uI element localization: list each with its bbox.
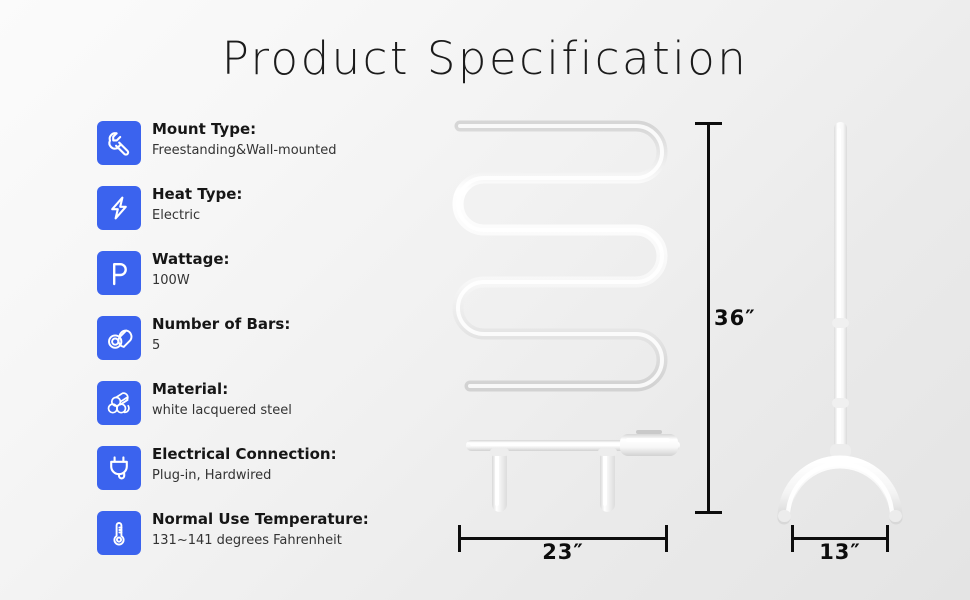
spec-row-heat-type: Heat Type: Electric bbox=[97, 186, 427, 251]
specification-list: Mount Type: Freestanding&Wall-mounted He… bbox=[97, 121, 427, 576]
thermometer-icon bbox=[97, 511, 141, 555]
spec-row-material: Material: white lacquered steel bbox=[97, 381, 427, 446]
single-pipe-icon bbox=[97, 316, 141, 360]
stacked-pipes-icon bbox=[97, 381, 141, 425]
spec-text-heat-type: Heat Type: Electric bbox=[152, 184, 427, 225]
spec-text-wattage: Wattage: 100W bbox=[152, 249, 427, 290]
towel-warmer-front-view bbox=[440, 110, 690, 530]
spec-text-number-of-bars: Number of Bars: 5 bbox=[152, 314, 427, 355]
width-dimension-label: 23″ bbox=[458, 540, 668, 564]
infographic-canvas: Product Specification Mount Type: Freest… bbox=[0, 0, 970, 600]
depth-dimension-label: 13″ bbox=[791, 540, 889, 564]
spec-row-wattage: Wattage: 100W bbox=[97, 251, 427, 316]
spec-row-number-of-bars: Number of Bars: 5 bbox=[97, 316, 427, 381]
spec-row-electrical-connection: Electrical Connection: Plug-in, Hardwire… bbox=[97, 446, 427, 511]
height-dimension-cap-top bbox=[695, 122, 722, 125]
spec-value: 5 bbox=[152, 336, 427, 355]
spec-label: Wattage: bbox=[152, 249, 427, 269]
spec-value: white lacquered steel bbox=[152, 401, 427, 420]
height-dimension-label: 36″ bbox=[714, 306, 756, 330]
spec-label: Mount Type: bbox=[152, 119, 427, 139]
page-title: Product Specification bbox=[0, 32, 970, 85]
spec-value: Freestanding&Wall-mounted bbox=[152, 141, 427, 160]
spec-value: Plug-in, Hardwired bbox=[152, 466, 427, 485]
height-dimension-cap-bottom bbox=[695, 511, 722, 514]
towel-warmer-side-view bbox=[770, 110, 930, 530]
wrench-icon bbox=[97, 121, 141, 165]
spec-label: Heat Type: bbox=[152, 184, 427, 204]
lightning-bolt-icon bbox=[97, 186, 141, 230]
spec-value: 100W bbox=[152, 271, 427, 290]
power-p-icon bbox=[97, 251, 141, 295]
spec-label: Normal Use Temperature: bbox=[152, 509, 427, 529]
spec-text-normal-use-temperature: Normal Use Temperature: 131~141 degrees … bbox=[152, 509, 427, 550]
spec-text-material: Material: white lacquered steel bbox=[152, 379, 427, 420]
spec-text-electrical-connection: Electrical Connection: Plug-in, Hardwire… bbox=[152, 444, 427, 485]
spec-row-normal-use-temperature: Normal Use Temperature: 131~141 degrees … bbox=[97, 511, 427, 576]
height-dimension-line bbox=[707, 122, 710, 514]
spec-label: Number of Bars: bbox=[152, 314, 427, 334]
spec-text-mount-type: Mount Type: Freestanding&Wall-mounted bbox=[152, 119, 427, 160]
spec-label: Material: bbox=[152, 379, 427, 399]
spec-value: 131~141 degrees Fahrenheit bbox=[152, 531, 427, 550]
spec-value: Electric bbox=[152, 206, 427, 225]
power-plug-icon bbox=[97, 446, 141, 490]
spec-row-mount-type: Mount Type: Freestanding&Wall-mounted bbox=[97, 121, 427, 186]
spec-label: Electrical Connection: bbox=[152, 444, 427, 464]
